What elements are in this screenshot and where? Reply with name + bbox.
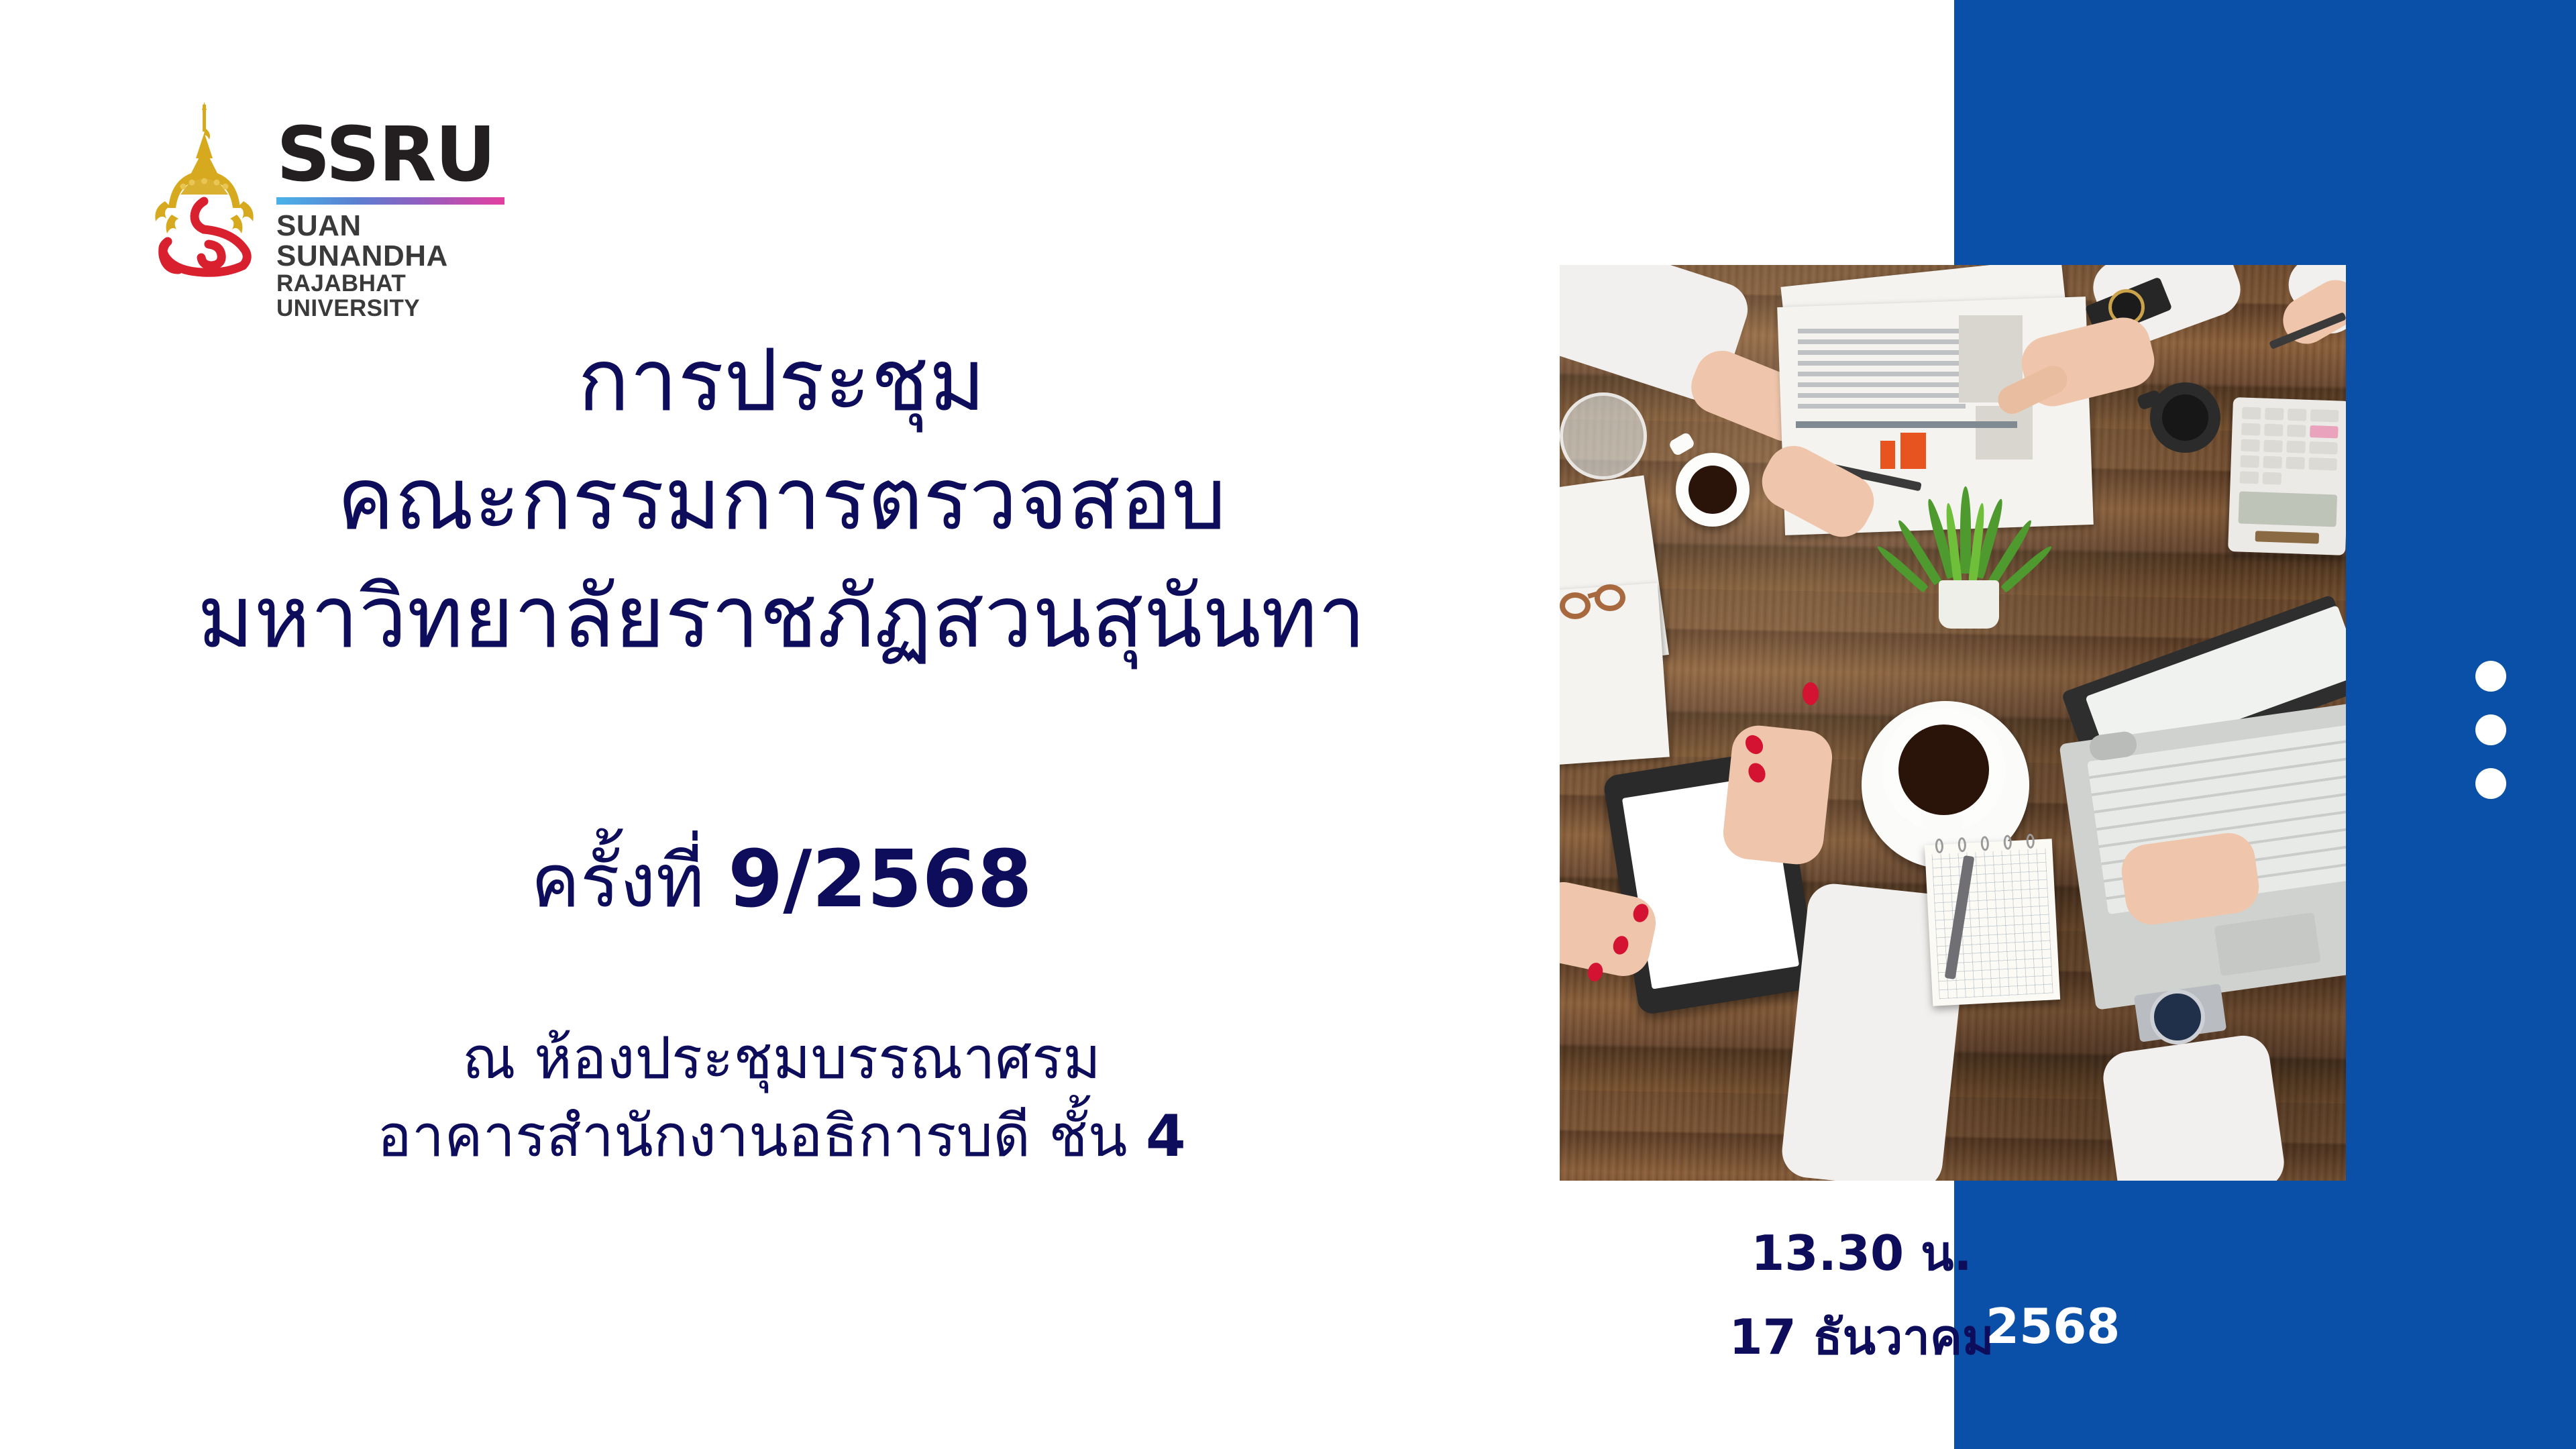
person-sleeve-bottom-right (2100, 1032, 2288, 1181)
hand-gesturing-center (1721, 723, 1835, 867)
calculator-key (2288, 409, 2307, 421)
ssru-crown-hamsa-emblem-icon (145, 101, 266, 282)
calculator-key (2241, 439, 2260, 451)
ssru-logo: SSRU SUAN SUNANDHA RAJABHAT UNIVERSITY (145, 101, 507, 282)
calculator-key (2310, 425, 2339, 438)
headline-line-1: การประชุม (0, 322, 1563, 441)
venue-line-2-prefix: อาคารสำนักงานอธิการบดี ชั้น (377, 1103, 1127, 1170)
venue-line-1: ณ ห้องประชุมบรรณาศรม (0, 1020, 1563, 1097)
eyeglasses-lens-right (1595, 584, 1625, 611)
calculator-key (2286, 457, 2305, 470)
meeting-photo (1560, 265, 2346, 1181)
schedule-year: 2568 (1986, 1298, 2120, 1354)
decorative-dot-icon (2475, 714, 2506, 745)
calculator-key (2309, 441, 2338, 454)
decorative-dot-icon (2475, 768, 2506, 799)
calculator-key (2263, 472, 2282, 485)
black-mug-interior (2162, 394, 2208, 441)
water-glass (1560, 392, 1647, 480)
potted-plant (1898, 486, 2033, 641)
decorative-dots-group (2475, 661, 2506, 799)
venue-floor-number: 4 (1146, 1103, 1186, 1170)
calculator-key (2308, 458, 2337, 470)
calculator-key (2242, 407, 2261, 419)
plant-pot (1939, 580, 1999, 629)
calculator (2228, 397, 2346, 555)
wristwatch-face-bottom (2150, 989, 2205, 1044)
venue-line-2: อาคารสำนักงานอธิการบดี ชั้น 4 (0, 1097, 1563, 1175)
calculator-key (2286, 441, 2306, 453)
eyeglasses (1560, 580, 1640, 627)
ssru-acronym: SSRU (276, 119, 507, 191)
calculator-key (2310, 409, 2339, 422)
calculator-key (2287, 425, 2306, 437)
calculator-key (2265, 408, 2284, 421)
headline-block: การประชุม คณะกรรมการตรวจสอบ มหาวิทยาลัยร… (0, 322, 1563, 678)
document-header-bar (1796, 421, 2017, 428)
plant-leaf (1960, 486, 1971, 574)
ssru-name-line2: RAJABHAT UNIVERSITY (276, 272, 507, 321)
document-orange-bar (1880, 441, 1895, 469)
calculator-solar-strip (2255, 531, 2320, 543)
calculator-key (2240, 471, 2259, 484)
headline-line-3: มหาวิทยาลัยราชภัฏสวนสุนันทา (0, 559, 1563, 678)
document-gray-block-2 (1976, 406, 2033, 460)
calculator-key (2264, 424, 2284, 437)
espresso-coffee (1688, 466, 1737, 514)
session-prefix: ครั้งที่ (531, 838, 704, 924)
ssru-name-line1: SUAN SUNANDHA (276, 211, 507, 272)
ssru-wordmark: SSRU SUAN SUNANDHA RAJABHAT UNIVERSITY (276, 119, 507, 321)
calculator-display (2238, 491, 2337, 527)
ssru-gradient-bar (276, 197, 504, 205)
fingernail (1803, 682, 1819, 705)
calculator-key (2240, 455, 2259, 468)
schedule-time: 13.30 น. (1630, 1214, 2093, 1291)
schedule-year-text: 2568 (1986, 1298, 2120, 1354)
decorative-dot-icon (2475, 661, 2506, 692)
eyeglasses-lens-left (1560, 592, 1591, 619)
headline-line-2: คณะกรรมการตรวจสอบ (0, 441, 1563, 559)
schedule-time-text: 13.30 น. (1751, 1225, 1972, 1281)
calculator-key (2263, 440, 2283, 453)
schedule-date-text: 17 ธันวาคม (1729, 1309, 1994, 1365)
coffee-liquid (1898, 724, 1989, 815)
session-number-line: ครั้งที่ 9/2568 (0, 832, 1563, 927)
calculator-key (2263, 456, 2282, 469)
calculator-key (2241, 423, 2261, 435)
session-number: 9/2568 (728, 833, 1032, 925)
venue-block: ณ ห้องประชุมบรรณาศรม อาคารสำนักงานอธิการ… (0, 1020, 1563, 1175)
document-orange-bar-2 (1900, 433, 1926, 469)
notepad (1925, 839, 2060, 1006)
